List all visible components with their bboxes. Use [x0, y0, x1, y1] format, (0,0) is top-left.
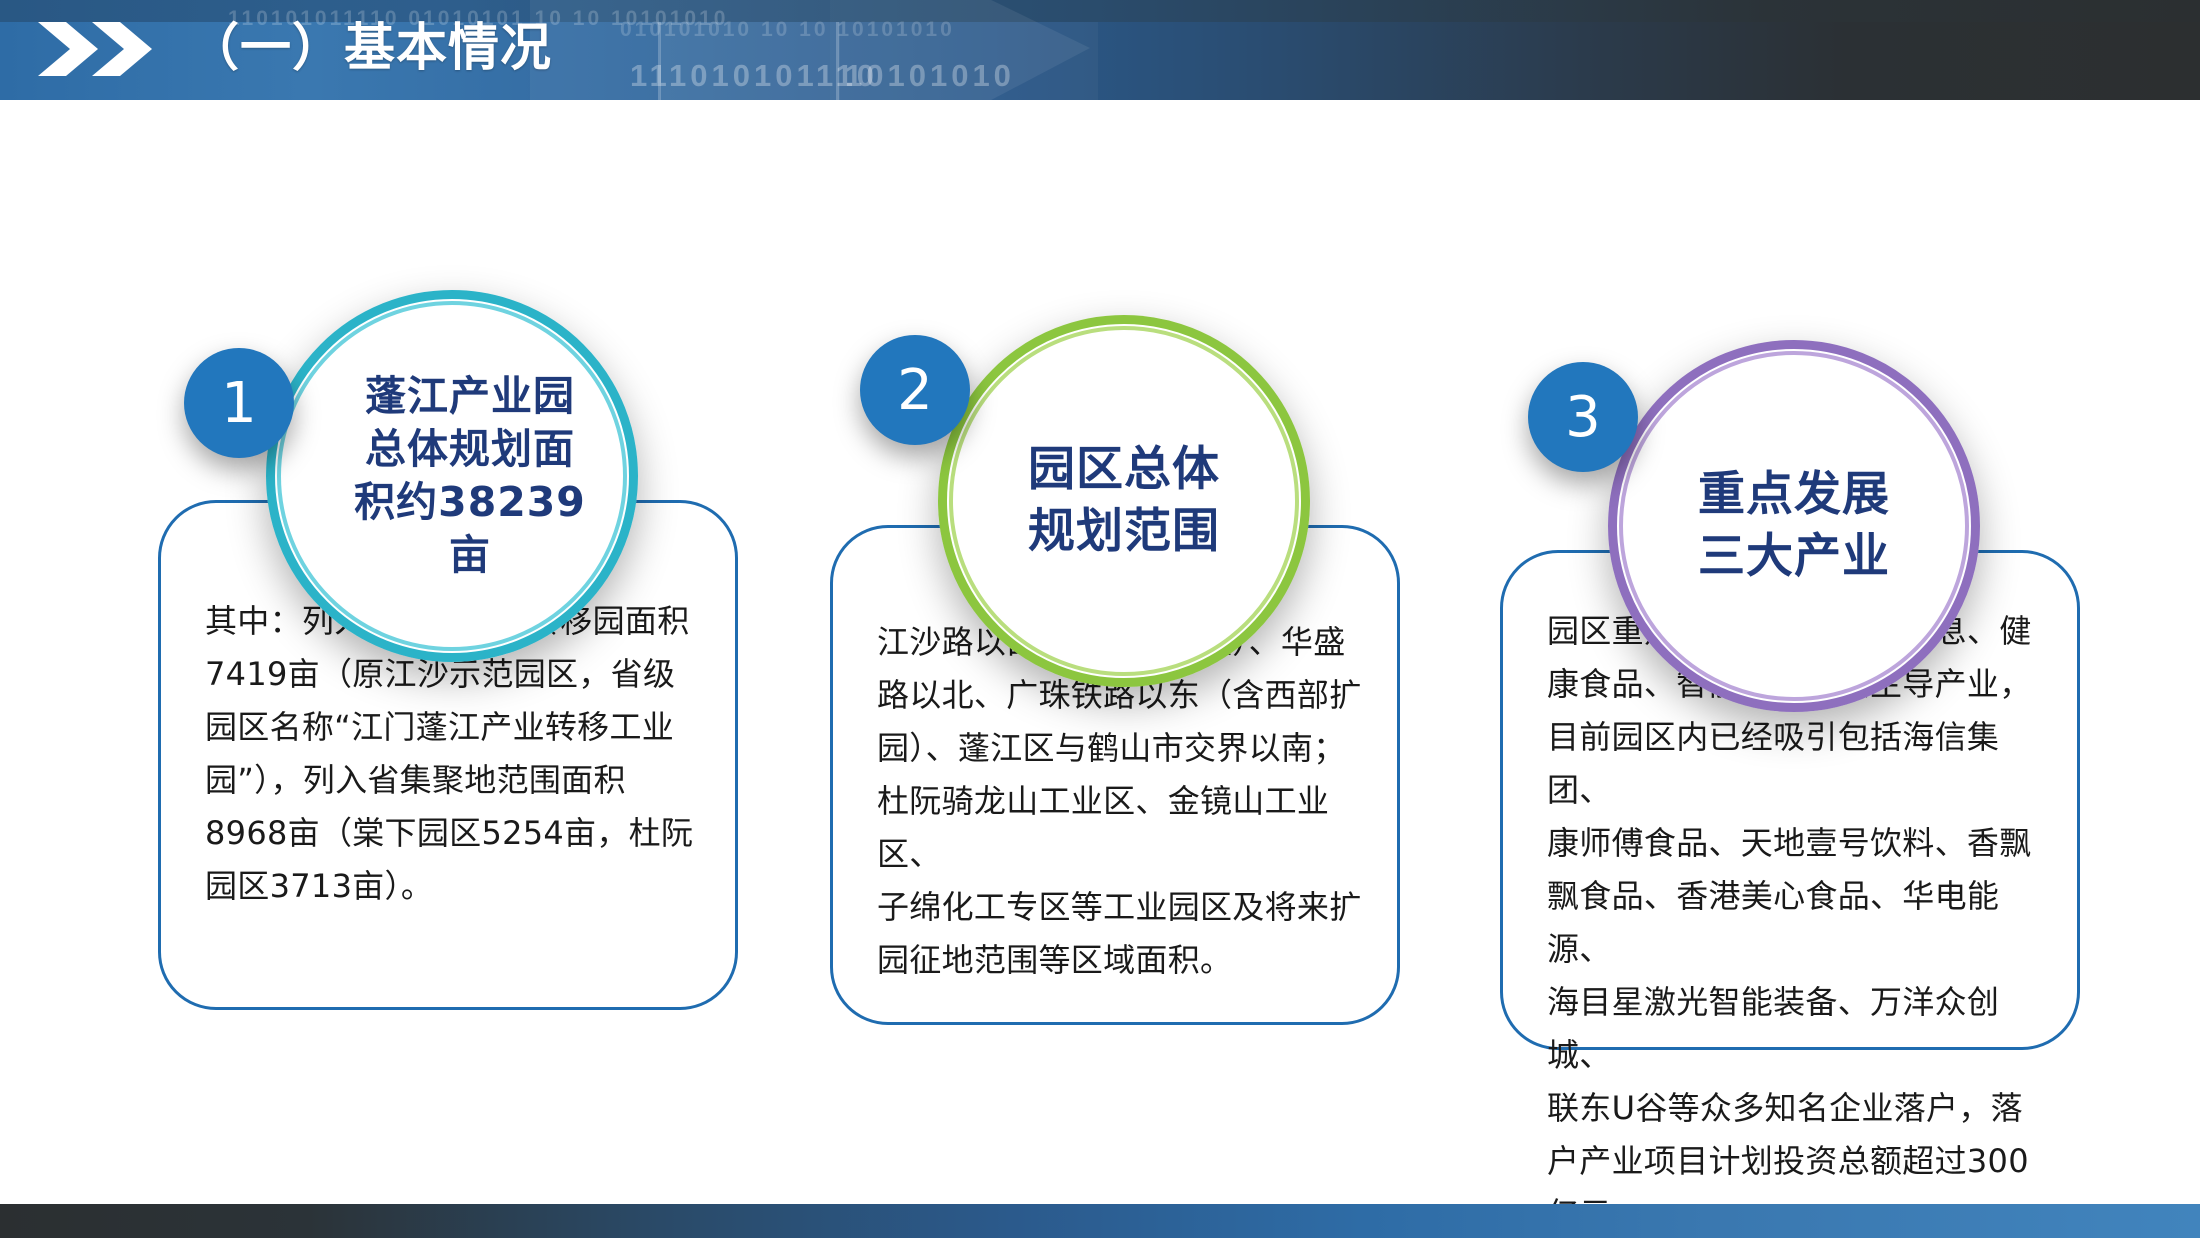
page-title: （一）基本情况	[188, 13, 552, 85]
header-binary-text-bottom-right: 10101010	[845, 58, 1015, 94]
info-card-3-circle: 重点发展 三大产业 3	[1608, 340, 1980, 712]
slide-header: 110101011110 01010101 10 10 10101010 010…	[0, 0, 2200, 100]
info-card-1-title: 蓬江产业园 总体规划面 积约38239 亩	[292, 290, 630, 662]
info-card-3: 园区重点发展新一代电子信息、健 康食品、智能制造三大主导产业， 目前园区内已经吸…	[1490, 340, 2090, 1060]
header-binary-text-mid: 010101010 10 10 10101010	[620, 18, 955, 42]
info-card-2-title: 园区总体 规划范围	[964, 315, 1284, 687]
info-card-2-number-badge: 2	[860, 335, 970, 445]
header-binary-text-bottom-left: 111010101110	[630, 58, 878, 94]
info-card-3-number-badge: 3	[1528, 362, 1638, 472]
info-card-3-title: 重点发展 三大产业	[1634, 340, 1954, 712]
info-card-1-circle: 蓬江产业园 总体规划面 积约38239 亩 1	[266, 290, 638, 662]
info-card-2-circle: 园区总体 规划范围 2	[938, 315, 1310, 687]
slide-content: 其中：列入广东省产业转移园面积 7419亩（原江沙示范园区，省级 园区名称“江门…	[0, 100, 2200, 1204]
info-card-2: 江沙路以西（含丰盛东区）、华盛 路以北、广珠铁路以东（含西部扩 园）、蓬江区与鹤…	[820, 315, 1420, 1035]
double-chevron-right-icon	[36, 20, 158, 78]
info-card-1: 其中：列入广东省产业转移园面积 7419亩（原江沙示范园区，省级 园区名称“江门…	[148, 290, 748, 1010]
info-card-1-number-badge: 1	[184, 348, 294, 458]
slide-footer-bar	[0, 1204, 2200, 1238]
